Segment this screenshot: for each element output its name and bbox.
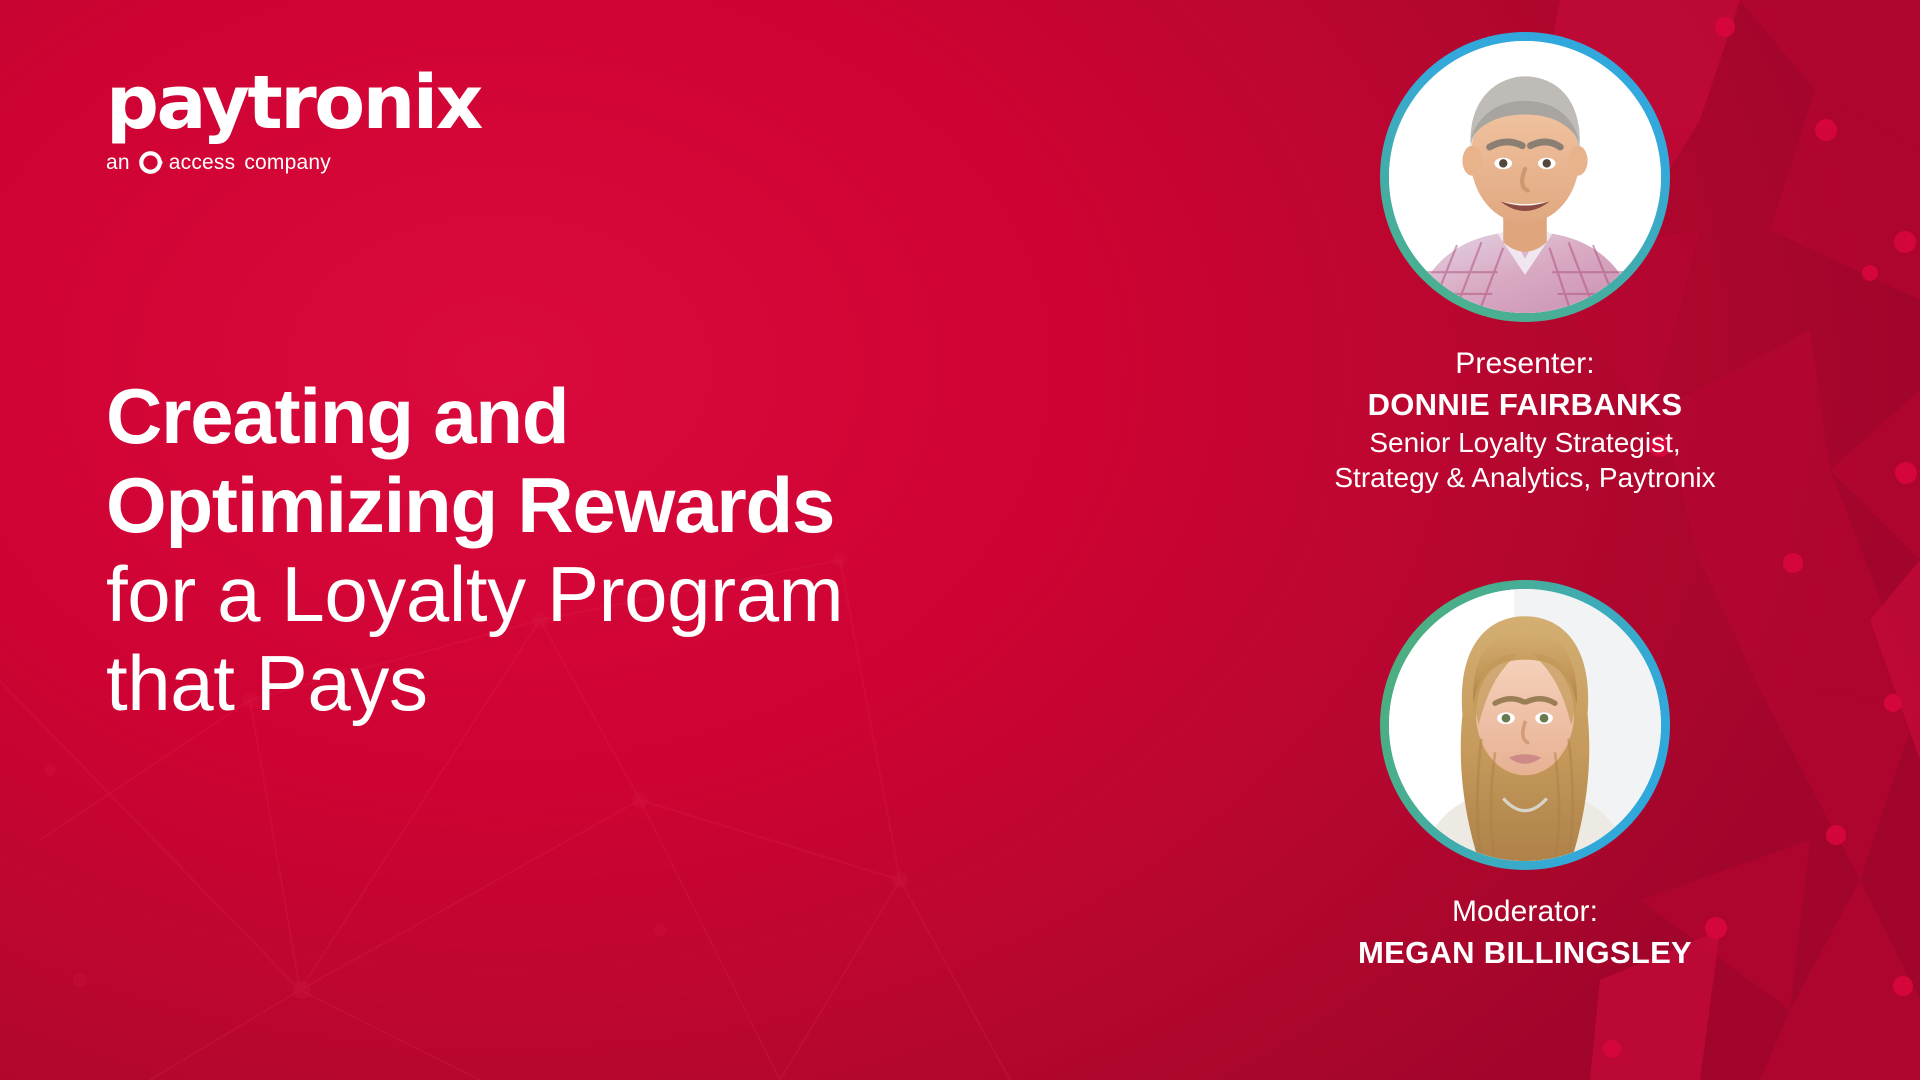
headline-line-1: Creating and xyxy=(106,372,1226,461)
logo-tagline: an access company xyxy=(106,150,526,175)
presenter-title-line-1: Senior Loyalty Strategist, xyxy=(1290,426,1760,460)
headline-line-2: Optimizing Rewards xyxy=(106,461,1226,550)
moderator-avatar-ring xyxy=(1380,580,1670,870)
presenter-title: Senior Loyalty Strategist, Strategy & An… xyxy=(1290,426,1760,494)
presenter-block: Presenter: DONNIE FAIRBANKS Senior Loyal… xyxy=(1290,32,1760,495)
presenter-name: DONNIE FAIRBANKS xyxy=(1290,386,1760,424)
moderator-name: MEGAN BILLINGSLEY xyxy=(1290,934,1760,972)
tagline-access-word: access xyxy=(169,151,236,175)
presenter-avatar-ring xyxy=(1380,32,1670,322)
webinar-title-slide: paytronix an access company Creating and… xyxy=(0,0,1920,1080)
headline-line-4: that Pays xyxy=(106,639,1226,728)
tagline-company-word: company xyxy=(244,151,331,175)
presenter-title-line-2: Strategy & Analytics, Paytronix xyxy=(1290,461,1760,495)
access-circle-icon xyxy=(138,150,163,175)
avatar xyxy=(1389,41,1661,313)
moderator-role-label: Moderator: xyxy=(1290,894,1760,931)
page-title: Creating and Optimizing Rewards for a Lo… xyxy=(106,372,1226,728)
paytronix-logo[interactable]: paytronix an access company xyxy=(106,66,526,175)
moderator-block: Moderator: MEGAN BILLINGSLEY xyxy=(1290,580,1760,971)
speakers-column: Presenter: DONNIE FAIRBANKS Senior Loyal… xyxy=(1290,0,1760,1080)
presenter-role-label: Presenter: xyxy=(1290,346,1760,383)
headline-line-3: for a Loyalty Program xyxy=(106,550,1226,639)
tagline-prefix: an xyxy=(106,151,130,175)
avatar xyxy=(1389,589,1661,861)
logo-wordmark: paytronix xyxy=(106,66,526,140)
